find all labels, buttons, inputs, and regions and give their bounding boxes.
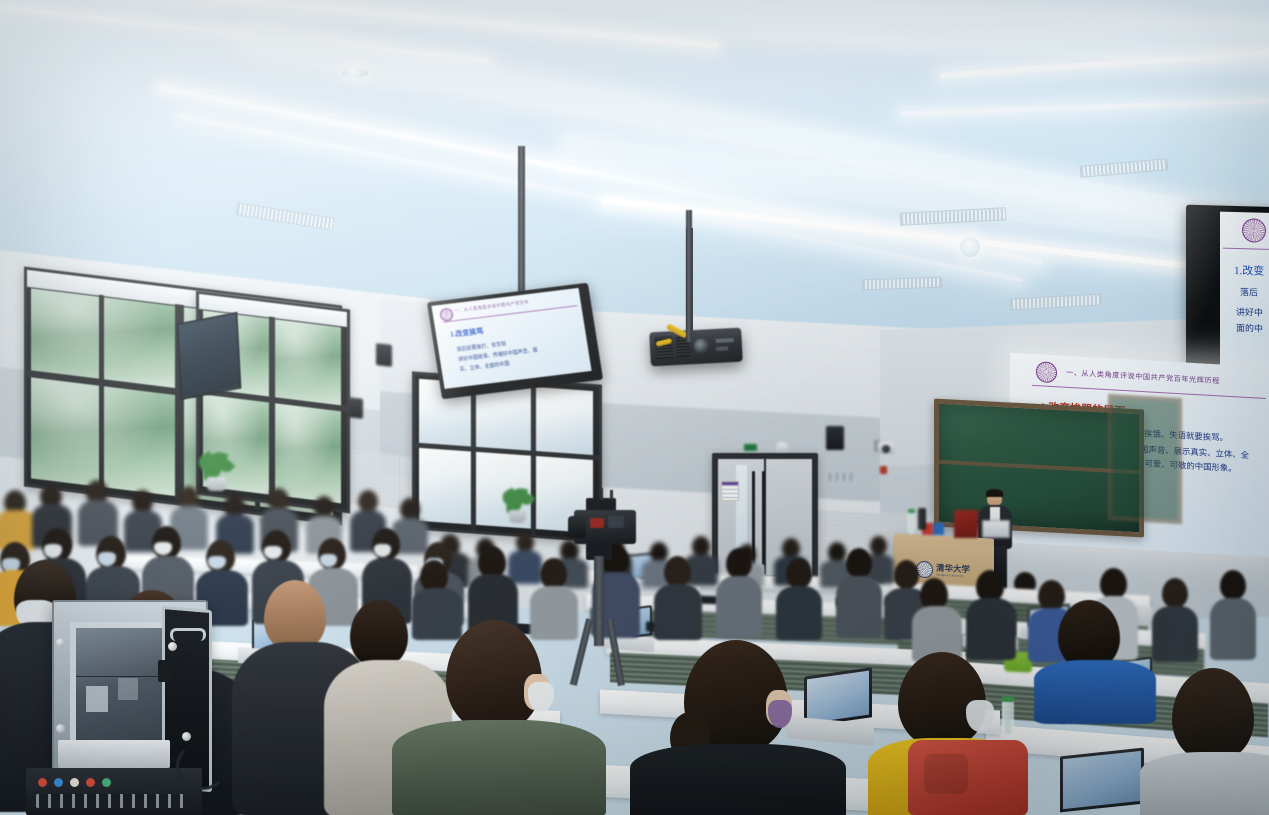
attendee-foreground <box>640 640 840 815</box>
thermos <box>918 508 926 530</box>
podium-folder <box>954 510 978 538</box>
case-screw <box>168 642 177 651</box>
ceiling-downlight <box>342 68 368 78</box>
ceiling-hung-monitor: 一、从人类角度评说中国共产党百年 1.改变挨骂 落后就要挨打、贫穷就 讲好中国故… <box>427 283 603 400</box>
fire-alarm <box>880 466 887 474</box>
wall-display-body-3: 面的中 <box>1236 322 1263 336</box>
case-handle[interactable] <box>170 628 206 641</box>
air-vent <box>900 207 1007 226</box>
bottle-cap <box>908 509 915 513</box>
air-vent <box>1080 158 1169 178</box>
air-vent <box>862 277 942 291</box>
exit-sign <box>744 444 757 451</box>
air-vent <box>1010 294 1103 311</box>
broadcast-video-camera <box>566 498 658 688</box>
wall-display-body-2: 讲好中 <box>1236 306 1263 320</box>
laptop[interactable] <box>1046 752 1146 814</box>
coat-hooks[interactable] <box>829 473 855 481</box>
case-screw <box>56 638 65 647</box>
wall-speaker <box>376 343 392 367</box>
hanging-monitor-title: 1.改变挨骂 <box>449 326 484 340</box>
case-screw <box>182 732 191 741</box>
monitor-hanging-pole <box>686 210 692 342</box>
ceiling-downlight <box>960 237 980 257</box>
air-vent <box>236 202 335 230</box>
wall-speaker <box>826 426 844 450</box>
podium-monitor <box>982 520 1010 538</box>
chalkboard-left-panel <box>1108 394 1182 524</box>
emergency-light <box>776 442 788 451</box>
surveillance-camera <box>872 440 896 460</box>
audio-mixing-console[interactable] <box>26 768 202 815</box>
case-screw <box>56 724 65 733</box>
wall-display-title: 1.改变 <box>1234 262 1264 279</box>
cable <box>176 742 228 790</box>
monitor-hanging-pole <box>518 146 525 314</box>
field-monitor-screen <box>70 622 174 746</box>
attendee-foreground <box>1040 600 1150 720</box>
wall-speaker <box>348 397 363 419</box>
tsinghua-seal-icon <box>1036 361 1057 383</box>
podium-box-blue <box>932 523 944 535</box>
case-latch[interactable] <box>158 660 170 682</box>
posted-notice <box>721 481 739 501</box>
wall-display-body-1: 落后 <box>1240 286 1258 300</box>
lecture-hall-photo: 一、从人类角度评说中国共产党百年 1.改变挨骂 落后就要挨打、贫穷就 讲好中国故… <box>0 0 1269 815</box>
backpack <box>908 740 1028 815</box>
ceiling-projector-assembly <box>640 228 760 368</box>
potted-plant <box>500 488 534 524</box>
attendee-foreground <box>1150 668 1269 815</box>
tilted-window-pane <box>177 312 242 400</box>
slide-header: 一、从人类角度评说中国共产党百年光辉历程 <box>1066 368 1220 387</box>
